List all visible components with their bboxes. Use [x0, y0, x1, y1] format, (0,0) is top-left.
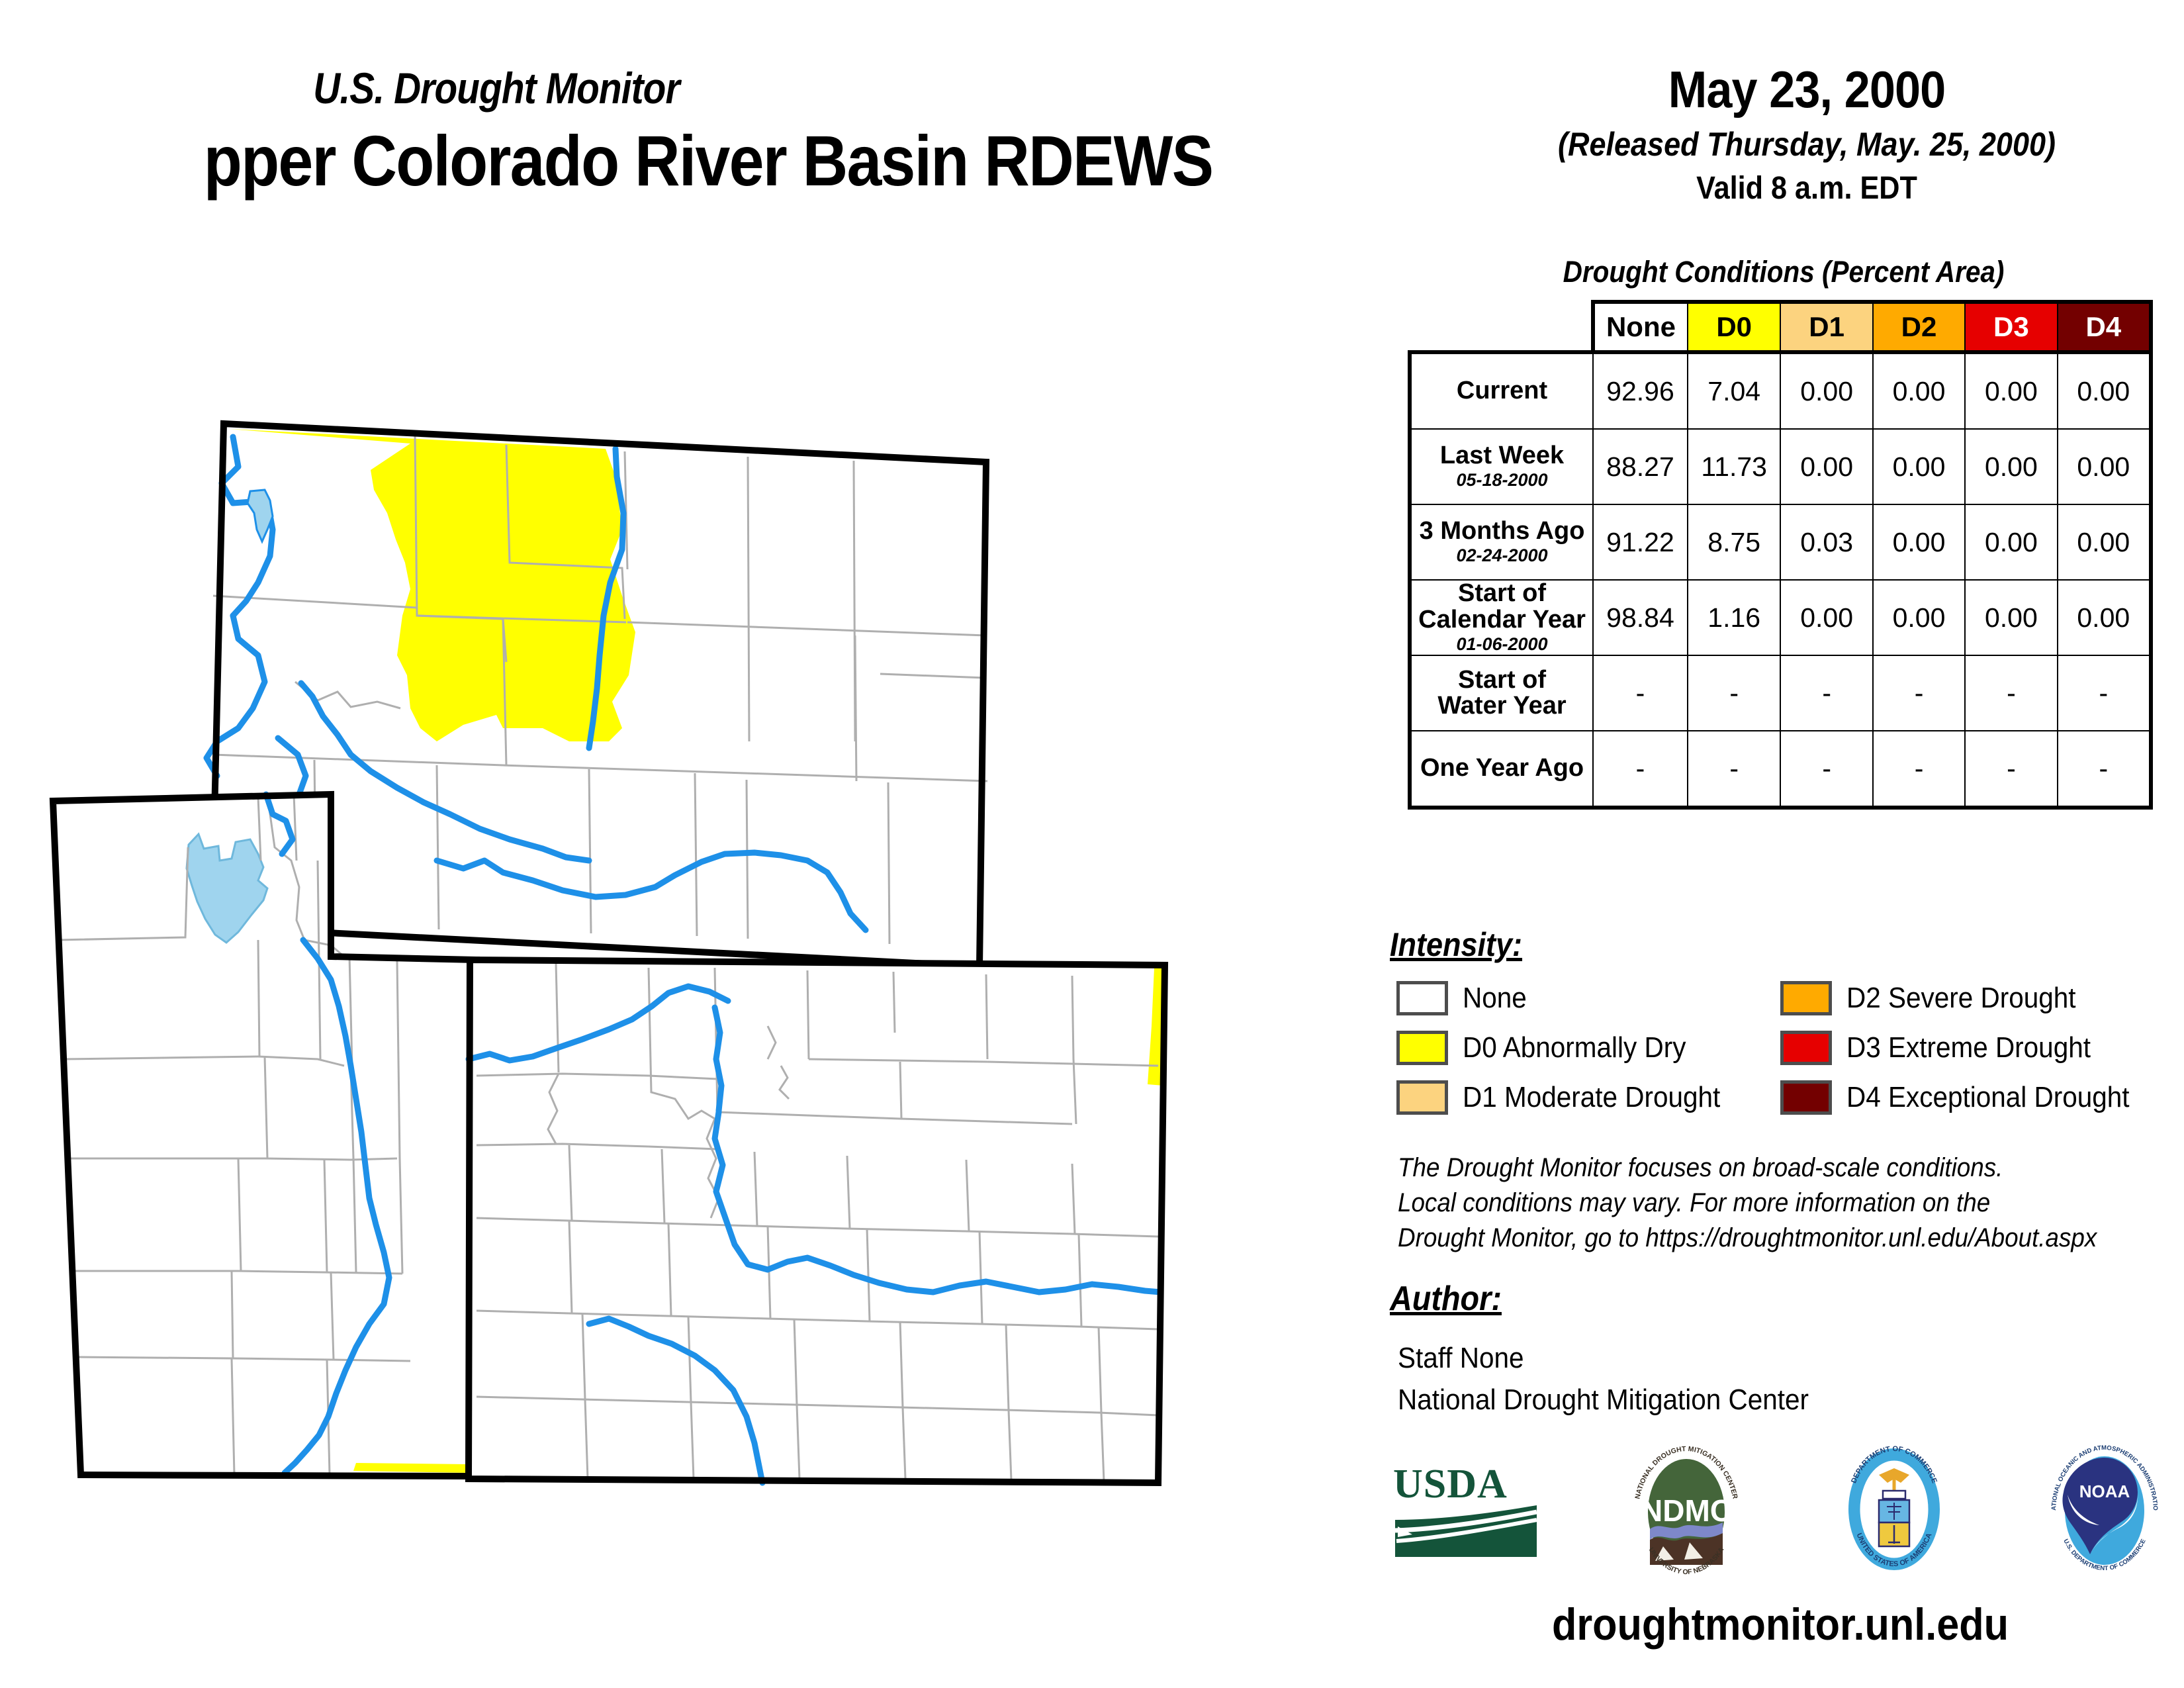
- cell-current-none: 92.96: [1593, 352, 1688, 429]
- table-header-row: None D0 D1 D2 D3 D4: [1410, 302, 2151, 352]
- cell-current-d0: 7.04: [1688, 352, 1781, 429]
- table-row-start-calendar-year: Start of Calendar Year 01-06-2000 98.84 …: [1410, 580, 2151, 655]
- row-label-text: Last Week: [1412, 443, 1592, 469]
- legend-item-d2: D2 Severe Drought: [1780, 981, 2177, 1015]
- legend-item-d0: D0 Abnormally Dry: [1396, 1031, 1780, 1065]
- legend-item-d3: D3 Extreme Drought: [1780, 1031, 2177, 1065]
- legend-label-d1: D1 Moderate Drought: [1463, 1081, 1720, 1114]
- cell-calendar-year-none: 98.84: [1593, 580, 1688, 655]
- svg-text:NOAA: NOAA: [2079, 1481, 2130, 1501]
- disclaimer-line-2: Local conditions may vary. For more info…: [1398, 1186, 2116, 1221]
- column-header-d0: D0: [1688, 302, 1781, 352]
- legend-swatch-d3: [1780, 1031, 1832, 1065]
- row-label-3-months-ago: 3 Months Ago 02-24-2000: [1410, 504, 1593, 580]
- author-info: Staff None National Drought Mitigation C…: [1398, 1337, 2116, 1421]
- row-label-text: Current: [1412, 378, 1592, 404]
- intensity-legend: None D2 Severe Drought D0 Abnormally Dry…: [1396, 973, 2177, 1122]
- legend-swatch-d2: [1780, 981, 1832, 1015]
- state-colorado: [469, 960, 1165, 1483]
- logo-row: USDA NDMC NATIONAL DROUGHT MITIGATION CE…: [1390, 1440, 2171, 1582]
- doc-logo[interactable]: DEPARTMENT OF COMMERCE UNITED STATES OF …: [1831, 1443, 1957, 1579]
- legend-swatch-none: [1396, 981, 1448, 1015]
- table-row-last-week: Last Week 05-18-2000 88.27 11.73 0.00 0.…: [1410, 429, 2151, 504]
- cell-water-year-d3: -: [1965, 655, 2057, 731]
- column-header-d3: D3: [1965, 302, 2057, 352]
- release-date: (Released Thursday, May. 25, 2000): [1509, 125, 2105, 164]
- cell-3-months-d1: 0.03: [1780, 504, 1872, 580]
- cell-one-year-d3: -: [1965, 731, 2057, 808]
- table-row-current: Current 92.96 7.04 0.00 0.00 0.00 0.00: [1410, 352, 2151, 429]
- column-header-d4: D4: [2058, 302, 2151, 352]
- column-header-d1: D1: [1780, 302, 1872, 352]
- cell-last-week-d1: 0.00: [1780, 429, 1872, 504]
- disclaimer-line-1: The Drought Monitor focuses on broad-sca…: [1398, 1150, 2116, 1186]
- intensity-legend-title: Intensity:: [1390, 925, 1522, 964]
- row-label-text: Start of Water Year: [1412, 667, 1592, 720]
- cell-3-months-d4: 0.00: [2058, 504, 2151, 580]
- cell-current-d4: 0.00: [2058, 352, 2151, 429]
- svg-text:NDMC: NDMC: [1641, 1493, 1732, 1528]
- cell-calendar-year-d0: 1.16: [1688, 580, 1781, 655]
- noaa-logo[interactable]: NOAA NATIONAL OCEANIC AND ATMOSPHERIC AD…: [2038, 1443, 2171, 1579]
- cell-last-week-d2: 0.00: [1873, 429, 1965, 504]
- cell-calendar-year-d2: 0.00: [1873, 580, 1965, 655]
- cell-water-year-d0: -: [1688, 655, 1781, 731]
- legend-swatch-d0: [1396, 1031, 1448, 1065]
- row-label-one-year-ago: One Year Ago: [1410, 731, 1593, 808]
- legend-label-d2: D2 Severe Drought: [1846, 982, 2076, 1015]
- cell-current-d1: 0.00: [1780, 352, 1872, 429]
- cell-water-year-d1: -: [1780, 655, 1872, 731]
- drought-conditions-table: None D0 D1 D2 D3 D4 Current 92.96 7.04 0…: [1408, 300, 2153, 810]
- legend-label-d4: D4 Exceptional Drought: [1846, 1081, 2130, 1114]
- cell-one-year-d1: -: [1780, 731, 1872, 808]
- column-header-none: None: [1593, 302, 1688, 352]
- row-label-last-week: Last Week 05-18-2000: [1410, 429, 1593, 504]
- cell-one-year-d4: -: [2058, 731, 2151, 808]
- ndmc-logo[interactable]: NDMC NATIONAL DROUGHT MITIGATION CENTER …: [1623, 1443, 1749, 1579]
- row-label-text: 3 Months Ago: [1412, 518, 1592, 545]
- cell-calendar-year-d1: 0.00: [1780, 580, 1872, 655]
- usda-logo[interactable]: USDA: [1390, 1456, 1542, 1566]
- table-row-one-year-ago: One Year Ago - - - - - -: [1410, 731, 2151, 808]
- legend-label-d3: D3 Extreme Drought: [1846, 1031, 2091, 1064]
- row-label-text: One Year Ago: [1412, 755, 1592, 782]
- cell-last-week-none: 88.27: [1593, 429, 1688, 504]
- column-header-d2: D2: [1873, 302, 1965, 352]
- cell-one-year-d0: -: [1688, 731, 1781, 808]
- disclaimer-text: The Drought Monitor focuses on broad-sca…: [1398, 1150, 2116, 1255]
- map-date: May 23, 2000: [1509, 60, 2105, 120]
- legend-item-d1: D1 Moderate Drought: [1396, 1080, 1780, 1115]
- legend-item-none: None: [1396, 981, 1780, 1015]
- cell-calendar-year-d4: 0.00: [2058, 580, 2151, 655]
- cell-one-year-none: -: [1593, 731, 1688, 808]
- legend-label-d0: D0 Abnormally Dry: [1463, 1031, 1686, 1064]
- cell-calendar-year-d3: 0.00: [1965, 580, 2057, 655]
- valid-time: Valid 8 a.m. EDT: [1509, 170, 2105, 207]
- page-title: pper Colorado River Basin RDEWS: [32, 119, 1384, 202]
- cell-one-year-d2: -: [1873, 731, 1965, 808]
- cell-last-week-d0: 11.73: [1688, 429, 1781, 504]
- drought-monitor-subtitle: U.S. Drought Monitor: [69, 63, 923, 113]
- row-label-date: 01-06-2000: [1412, 634, 1592, 655]
- cell-water-year-d2: -: [1873, 655, 1965, 731]
- table-row-3-months-ago: 3 Months Ago 02-24-2000 91.22 8.75 0.03 …: [1410, 504, 2151, 580]
- table-row-start-water-year: Start of Water Year - - - - - -: [1410, 655, 2151, 731]
- row-label-date: 02-24-2000: [1412, 545, 1592, 566]
- svg-text:USDA: USDA: [1393, 1462, 1508, 1507]
- row-label-text: Start of Calendar Year: [1412, 581, 1592, 633]
- table-corner-cell: [1410, 302, 1593, 352]
- author-name: Staff None: [1398, 1337, 2116, 1379]
- cell-3-months-d2: 0.00: [1873, 504, 1965, 580]
- cell-3-months-d0: 8.75: [1688, 504, 1781, 580]
- table-caption: Drought Conditions (Percent Area): [1441, 255, 2126, 289]
- cell-current-d3: 0.00: [1965, 352, 2057, 429]
- date-block: May 23, 2000 (Released Thursday, May. 25…: [1476, 60, 2138, 207]
- cell-water-year-none: -: [1593, 655, 1688, 731]
- footer-url[interactable]: droughtmonitor.unl.edu: [1429, 1599, 2132, 1650]
- row-label-current: Current: [1410, 352, 1593, 429]
- disclaimer-line-3: Drought Monitor, go to https://droughtmo…: [1398, 1221, 2116, 1256]
- cell-water-year-d4: -: [2058, 655, 2151, 731]
- legend-item-d4: D4 Exceptional Drought: [1780, 1080, 2177, 1115]
- cell-last-week-d4: 0.00: [2058, 429, 2151, 504]
- author-heading: Author:: [1390, 1279, 1502, 1319]
- row-label-start-calendar-year: Start of Calendar Year 01-06-2000: [1410, 580, 1593, 655]
- cell-3-months-none: 91.22: [1593, 504, 1688, 580]
- legend-label-none: None: [1463, 982, 1527, 1015]
- cell-current-d2: 0.00: [1873, 352, 1965, 429]
- drought-map[interactable]: [40, 397, 1350, 1509]
- row-label-start-water-year: Start of Water Year: [1410, 655, 1593, 731]
- row-label-date: 05-18-2000: [1412, 470, 1592, 491]
- legend-swatch-d4: [1780, 1080, 1832, 1115]
- cell-last-week-d3: 0.00: [1965, 429, 2057, 504]
- author-organization: National Drought Mitigation Center: [1398, 1379, 2116, 1421]
- cell-3-months-d3: 0.00: [1965, 504, 2057, 580]
- legend-swatch-d1: [1396, 1080, 1448, 1115]
